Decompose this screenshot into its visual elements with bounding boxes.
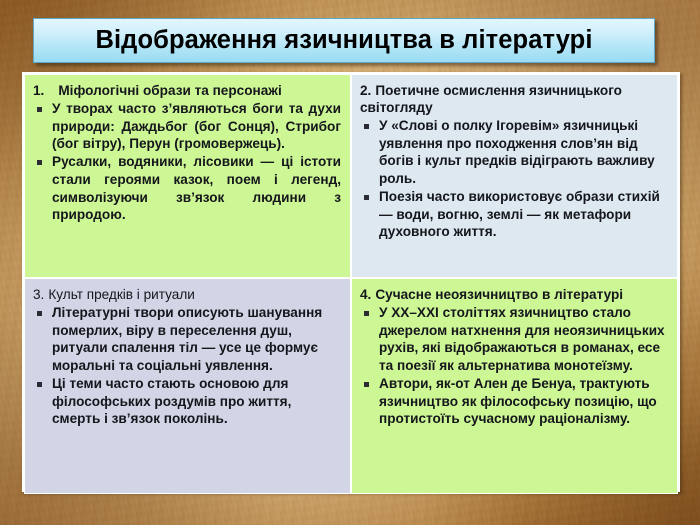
cell-3-heading-text: Культ предків і ритуали — [48, 287, 195, 302]
cell-4-bullet-list: У XX–XXI століттях язичництво стало джер… — [360, 304, 668, 428]
list-item: У творах часто з’являються боги та духи … — [33, 100, 341, 153]
list-item: Русалки, водяники, лісовики — ці істоти … — [33, 153, 341, 223]
list-item: У «Слові о полку Ігоревім» язичницькі уя… — [360, 117, 668, 187]
list-item: Літературні твори описують шанування пом… — [33, 304, 341, 374]
list-item: Автори, як-от Ален де Бенуа, трактують я… — [360, 375, 668, 428]
cell-2-number: 2. — [360, 83, 371, 98]
cell-3-number: 3. — [33, 287, 44, 302]
table-cell-4: 4.Сучасне неоязичництво в літературі У X… — [351, 278, 678, 494]
list-item: У XX–XXI століттях язичництво стало джер… — [360, 304, 668, 374]
slide-canvas: Відображення язичництва в літературі 1.М… — [0, 0, 700, 525]
cell-4-number: 4. — [360, 287, 371, 302]
table-cell-2: 2.Поетичне осмислення язичницького світо… — [351, 74, 678, 278]
cell-4-heading-text: Сучасне неоязичництво в літературі — [375, 287, 623, 302]
list-item: Ці теми часто стають основою для філософ… — [33, 375, 341, 428]
slide-title-banner: Відображення язичництва в літературі — [33, 18, 655, 63]
cell-1-heading-text: Міфологічні образи та персонажі — [58, 83, 281, 98]
cell-1-bullet-list: У творах часто з’являються боги та духи … — [33, 100, 341, 224]
cell-2-heading: 2.Поетичне осмислення язичницького світо… — [360, 82, 668, 116]
cell-3-heading: 3.Культ предків і ритуали — [33, 286, 341, 303]
table-cell-3: 3.Культ предків і ритуали Літературні тв… — [24, 278, 351, 494]
cell-3-bullet-list: Літературні твори описують шанування пом… — [33, 304, 341, 428]
cell-2-bullet-list: У «Слові о полку Ігоревім» язичницькі уя… — [360, 117, 668, 241]
list-item: Поезія часто використовує образи стихій … — [360, 188, 668, 241]
table-cell-1: 1.Міфологічні образи та персонажі У твор… — [24, 74, 351, 278]
page-title: Відображення язичництва в літературі — [95, 28, 592, 54]
cell-1-heading: 1.Міфологічні образи та персонажі — [33, 82, 341, 99]
cell-2-heading-text: Поетичне осмислення язичницького світогл… — [360, 83, 622, 115]
cell-1-number: 1. — [33, 83, 44, 98]
content-table: 1.Міфологічні образи та персонажі У твор… — [22, 72, 680, 492]
cell-4-heading: 4.Сучасне неоязичництво в літературі — [360, 286, 668, 303]
